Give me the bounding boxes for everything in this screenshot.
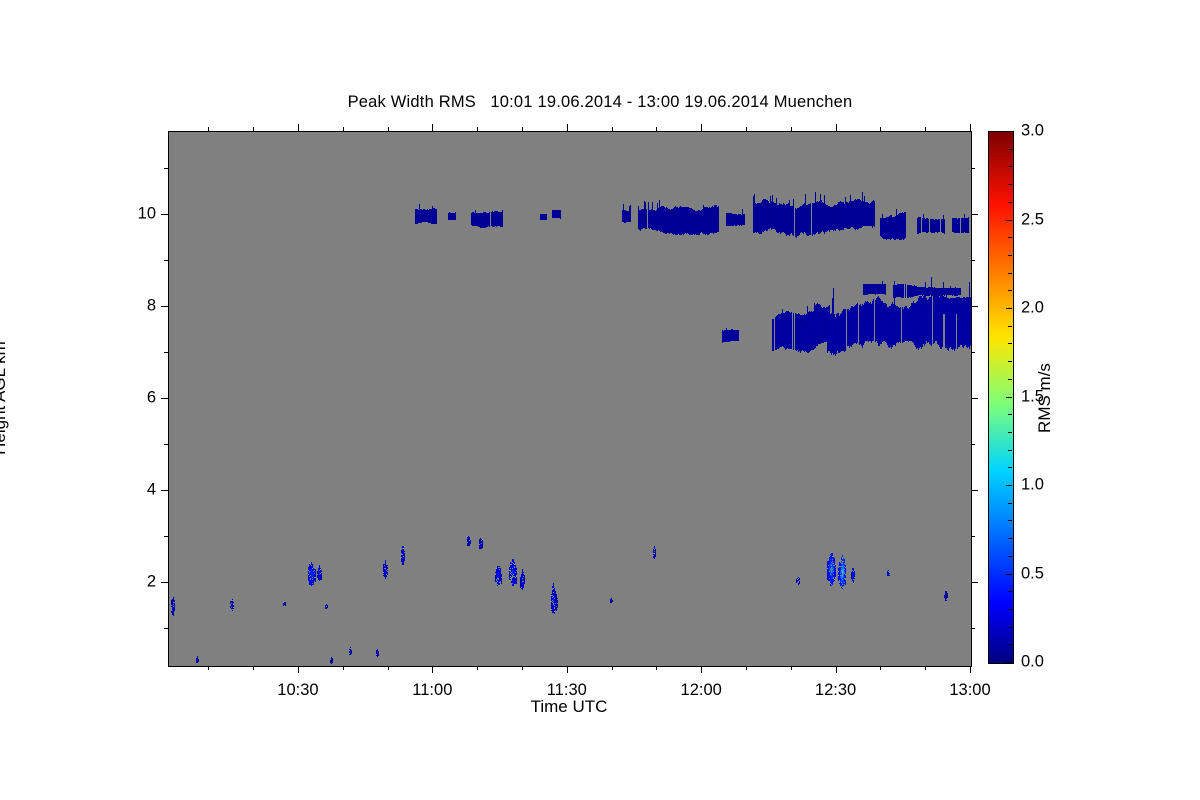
colorbar-tick-minor: [1008, 627, 1012, 628]
y-tick-minor: [164, 536, 168, 537]
x-tick-minor: [746, 666, 747, 670]
x-tick-minor-top: [746, 127, 747, 131]
y-tick-major-right: [971, 214, 978, 215]
x-tick-minor: [253, 666, 254, 670]
x-tick-minor-top: [343, 127, 344, 131]
x-tick-minor: [880, 666, 881, 670]
colorbar-tick-minor: [1008, 450, 1012, 451]
colorbar-tick-label: 3.0: [1021, 122, 1044, 141]
x-tick-minor: [791, 666, 792, 670]
y-tick-minor-right: [971, 444, 975, 445]
x-tick-minor: [477, 666, 478, 670]
y-tick-minor-right: [971, 628, 975, 629]
colorbar-gradient: [989, 132, 1013, 663]
x-tick-major-top: [836, 124, 837, 131]
y-tick-major: [161, 214, 168, 215]
x-tick-major: [298, 666, 299, 673]
colorbar-tick-major: [1006, 131, 1012, 132]
colorbar-tick-minor: [1008, 361, 1012, 362]
colorbar-tick-minor: [1008, 290, 1012, 291]
x-tick-major: [567, 666, 568, 673]
x-tick-major-top: [701, 124, 702, 131]
colorbar-tick-minor: [1008, 432, 1012, 433]
x-tick-minor-top: [791, 127, 792, 131]
colorbar-tick-minor: [1008, 467, 1012, 468]
colorbar-tick-minor: [1008, 202, 1012, 203]
y-tick-minor-right: [971, 536, 975, 537]
x-tick-minor: [522, 666, 523, 670]
colorbar-tick-minor: [1008, 556, 1012, 557]
colorbar-tick-minor: [1008, 237, 1012, 238]
colorbar-tick-minor: [1008, 538, 1012, 539]
y-tick-major-right: [971, 306, 978, 307]
colorbar-tick-label: 0.5: [1021, 564, 1044, 583]
x-tick-minor-top: [477, 127, 478, 131]
y-tick-minor-right: [971, 352, 975, 353]
colorbar-tick-major: [1006, 485, 1012, 486]
y-tick-minor: [164, 628, 168, 629]
colorbar-tick-minor: [1008, 255, 1012, 256]
colorbar-tick-minor: [1008, 609, 1012, 610]
colorbar-tick-major: [1006, 574, 1012, 575]
x-tick-minor: [343, 666, 344, 670]
x-tick-major: [970, 666, 971, 673]
y-tick-major: [161, 306, 168, 307]
colorbar-tick-minor: [1008, 414, 1012, 415]
colorbar-tick-minor: [1008, 149, 1012, 150]
x-tick-minor-top: [253, 127, 254, 131]
x-tick-minor-top: [522, 127, 523, 131]
x-tick-minor-top: [880, 127, 881, 131]
y-tick-major: [161, 582, 168, 583]
y-tick-label: 6: [116, 389, 156, 408]
x-tick-minor: [388, 666, 389, 670]
x-tick-minor: [925, 666, 926, 670]
colorbar-label: RMS m/s: [1035, 298, 1055, 498]
heatmap-canvas: [169, 132, 971, 666]
colorbar-tick-minor: [1008, 273, 1012, 274]
x-tick-major: [836, 666, 837, 673]
x-tick-major-top: [567, 124, 568, 131]
colorbar-tick-minor: [1008, 184, 1012, 185]
y-tick-minor: [164, 444, 168, 445]
x-tick-minor-top: [388, 127, 389, 131]
colorbar-tick-minor: [1008, 520, 1012, 521]
colorbar-tick-minor: [1008, 503, 1012, 504]
x-tick-minor-top: [656, 127, 657, 131]
plot-axes-area: [168, 131, 972, 667]
x-tick-major-top: [298, 124, 299, 131]
colorbar-tick-minor: [1008, 343, 1012, 344]
x-tick-minor-top: [208, 127, 209, 131]
y-tick-minor: [164, 260, 168, 261]
colorbar: [988, 131, 1014, 664]
x-tick-major-top: [970, 124, 971, 131]
colorbar-tick-major: [1006, 220, 1012, 221]
colorbar-tick-label: 0.0: [1021, 653, 1044, 672]
x-tick-minor: [656, 666, 657, 670]
y-axis-label: Height AGL km: [0, 298, 10, 498]
colorbar-tick-major: [1006, 397, 1012, 398]
colorbar-tick-minor: [1008, 379, 1012, 380]
x-tick-minor: [612, 666, 613, 670]
y-tick-minor: [164, 352, 168, 353]
colorbar-tick-minor: [1008, 326, 1012, 327]
y-tick-major: [161, 490, 168, 491]
x-tick-minor-top: [925, 127, 926, 131]
colorbar-tick-minor: [1008, 644, 1012, 645]
y-tick-minor: [164, 168, 168, 169]
y-tick-major: [161, 398, 168, 399]
y-tick-label: 2: [116, 573, 156, 592]
colorbar-tick-minor: [1008, 591, 1012, 592]
x-tick-minor-top: [612, 127, 613, 131]
x-tick-minor: [208, 666, 209, 670]
y-tick-minor-right: [971, 168, 975, 169]
figure-root: Peak Width RMS 10:01 19.06.2014 - 13:00 …: [0, 0, 1200, 800]
page-title: Peak Width RMS 10:01 19.06.2014 - 13:00 …: [0, 93, 1200, 112]
x-tick-major: [701, 666, 702, 673]
y-tick-label: 4: [116, 481, 156, 500]
x-tick-major-top: [432, 124, 433, 131]
x-tick-major: [432, 666, 433, 673]
y-tick-minor-right: [971, 260, 975, 261]
colorbar-tick-major: [1006, 308, 1012, 309]
y-tick-label: 8: [116, 296, 156, 315]
y-tick-major-right: [971, 398, 978, 399]
colorbar-tick-minor: [1008, 166, 1012, 167]
y-tick-label: 10: [116, 204, 156, 223]
y-tick-major-right: [971, 582, 978, 583]
x-axis-label: Time UTC: [168, 697, 970, 717]
colorbar-tick-label: 2.5: [1021, 210, 1044, 229]
y-tick-major-right: [971, 490, 978, 491]
colorbar-tick-major: [1006, 662, 1012, 663]
